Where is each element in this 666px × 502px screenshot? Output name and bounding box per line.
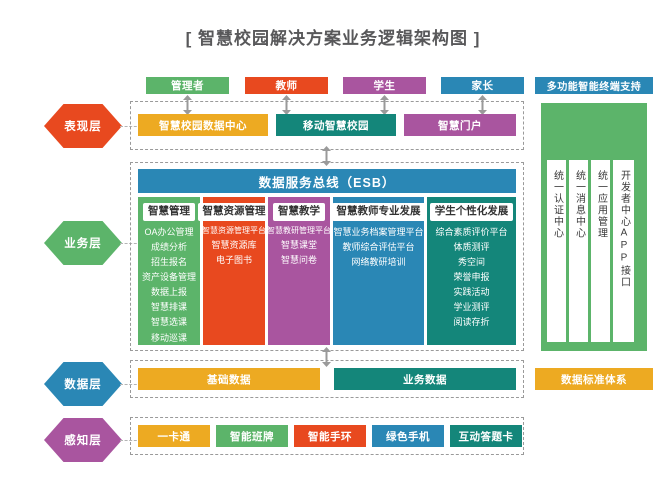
platform-service-label: 统一应用管理: [596, 170, 606, 239]
perception-box-answer-card[interactable]: 互动答题卡: [450, 425, 522, 447]
business-item: 招生报名: [151, 256, 187, 268]
business-item: 阅读存折: [453, 316, 489, 328]
business-column-header: 智慧资源管理: [198, 203, 271, 221]
business-column-items: 智慧业务档案管理平台 教师综合评估平台 网络教研培训: [333, 226, 424, 268]
data-standard-box[interactable]: 数据标准体系: [535, 368, 653, 390]
business-item: 电子图书: [216, 254, 252, 266]
presentation-label: 智慧门户: [438, 118, 482, 133]
platform-service-app-management[interactable]: 统一应用管理: [591, 160, 610, 342]
perception-box-campus-card[interactable]: 一卡通: [138, 425, 210, 447]
layer-badge-label: 感知层: [64, 432, 102, 448]
layer-badge-data: 数据层: [44, 362, 122, 406]
role-box-student[interactable]: 学生: [343, 77, 426, 94]
presentation-box-data-center[interactable]: 智慧校园数据中心: [138, 114, 268, 136]
business-item: 智慧排课: [151, 301, 187, 313]
business-column-teacher-development[interactable]: 智慧教师专业发展 智慧业务档案管理平台 教师综合评估平台 网络教研培训: [333, 197, 424, 345]
page-title: [ 智慧校园解决方案业务逻辑架构图 ]: [0, 24, 666, 49]
layer-badge-label: 表现层: [64, 118, 102, 134]
perception-label: 一卡通: [158, 429, 191, 444]
role-box-parent[interactable]: 家长: [441, 77, 524, 94]
business-item: 荣誉申报: [453, 271, 489, 283]
business-item: 移动巡课: [151, 332, 187, 344]
platform-service-message-center[interactable]: 统一消息中心: [569, 160, 588, 342]
terminal-support-label: 多功能智能终端支持: [547, 78, 642, 93]
business-column-student-development[interactable]: 学生个性化发展 综合素质评价平台 体质测评 秀空间 荣誉申报 实践活动 学业测评…: [427, 197, 516, 345]
platform-service-developer-center[interactable]: 开发者中心APP接口: [613, 160, 634, 342]
presentation-box-mobile-campus[interactable]: 移动智慧校园: [276, 114, 396, 136]
business-item: 学业测评: [453, 301, 489, 313]
role-label: 家长: [472, 78, 494, 93]
business-item: 资产设备管理: [142, 271, 196, 283]
business-column-header: 学生个性化发展: [430, 203, 514, 221]
business-item: 实践活动: [453, 286, 489, 298]
business-column-items: 智慧资源管理平台 智慧资源库 电子图书: [203, 226, 265, 267]
business-item: 智慧课堂: [281, 239, 317, 251]
layer-badge-label: 数据层: [64, 376, 102, 392]
platform-service-label: 开发者中心APP接口: [619, 170, 629, 288]
business-item: 智慧业务档案管理平台: [333, 226, 423, 238]
layer-badge-business: 业务层: [44, 221, 122, 265]
business-column-smart-management[interactable]: 智慧管理 OA办公管理 成绩分析 招生报名 资产设备管理 数据上报 智慧排课 智…: [138, 197, 200, 345]
data-label: 基础数据: [207, 372, 251, 387]
perception-box-smart-class-board[interactable]: 智能班牌: [216, 425, 288, 447]
perception-label: 智能手环: [308, 429, 352, 444]
data-label: 业务数据: [403, 372, 447, 387]
perception-label: 互动答题卡: [459, 429, 514, 444]
business-item: 体质测评: [453, 241, 489, 253]
perception-box-green-phone[interactable]: 绿色手机: [372, 425, 444, 447]
business-item: 教师综合评估平台: [342, 241, 414, 253]
presentation-label: 移动智慧校园: [303, 118, 369, 133]
business-column-header: 智慧管理: [143, 203, 195, 221]
business-item: 成绩分析: [151, 241, 187, 253]
business-item: 数据上报: [151, 286, 187, 298]
presentation-label: 智慧校园数据中心: [159, 118, 247, 133]
business-item: 智慧资源库: [211, 239, 256, 251]
platform-service-auth-center[interactable]: 统一认证中心: [547, 160, 566, 342]
esb-label: 数据服务总线（ESB）: [259, 172, 396, 191]
terminal-support-box[interactable]: 多功能智能终端支持: [535, 77, 653, 94]
layer-badge-perception: 感知层: [44, 418, 122, 462]
business-column-header: 智慧教师专业发展: [332, 203, 426, 221]
business-column-items: OA办公管理 成绩分析 招生报名 资产设备管理 数据上报 智慧排课 智慧选课 移…: [138, 226, 200, 344]
role-label: 学生: [374, 78, 396, 93]
business-column-smart-teaching[interactable]: 智慧教学 智慧教研管理平台 智慧课堂 智慧问卷: [268, 197, 330, 345]
business-item: OA办公管理: [144, 226, 193, 238]
business-item: 智慧选课: [151, 316, 187, 328]
business-item: 网络教研培训: [351, 256, 405, 268]
presentation-box-portal[interactable]: 智慧门户: [404, 114, 516, 136]
business-column-resource-management[interactable]: 智慧资源管理 智慧资源管理平台 智慧资源库 电子图书: [203, 197, 265, 345]
role-label: 教师: [276, 78, 298, 93]
business-item: 秀空间: [458, 256, 485, 268]
role-box-administrator[interactable]: 管理者: [146, 77, 229, 94]
business-item: 智慧教研管理平台: [267, 226, 331, 237]
role-box-teacher[interactable]: 教师: [245, 77, 328, 94]
perception-label: 智能班牌: [230, 429, 274, 444]
business-column-items: 综合素质评价平台 体质测评 秀空间 荣誉申报 实践活动 学业测评 阅读存折: [427, 226, 516, 329]
layer-badge-presentation: 表现层: [44, 104, 122, 148]
role-label: 管理者: [171, 78, 204, 93]
platform-service-label: 统一消息中心: [574, 170, 584, 239]
business-item: 智慧资源管理平台: [202, 226, 266, 237]
perception-box-smart-wristband[interactable]: 智能手环: [294, 425, 366, 447]
business-column-items: 智慧教研管理平台 智慧课堂 智慧问卷: [268, 226, 330, 267]
data-box-basic-data[interactable]: 基础数据: [138, 368, 320, 390]
diagram-canvas: [ 智慧校园解决方案业务逻辑架构图 ] 表现层 业务层 数据层 感知层 管理者 …: [0, 0, 666, 502]
business-column-header: 智慧教学: [273, 203, 325, 221]
perception-label: 绿色手机: [386, 429, 430, 444]
business-item: 综合素质评价平台: [435, 226, 507, 238]
layer-badge-label: 业务层: [64, 235, 102, 251]
data-standard-label: 数据标准体系: [561, 372, 627, 387]
business-item: 智慧问卷: [281, 254, 317, 266]
data-box-business-data[interactable]: 业务数据: [334, 368, 516, 390]
platform-service-label: 统一认证中心: [552, 170, 562, 239]
esb-bar[interactable]: 数据服务总线（ESB）: [138, 169, 516, 193]
